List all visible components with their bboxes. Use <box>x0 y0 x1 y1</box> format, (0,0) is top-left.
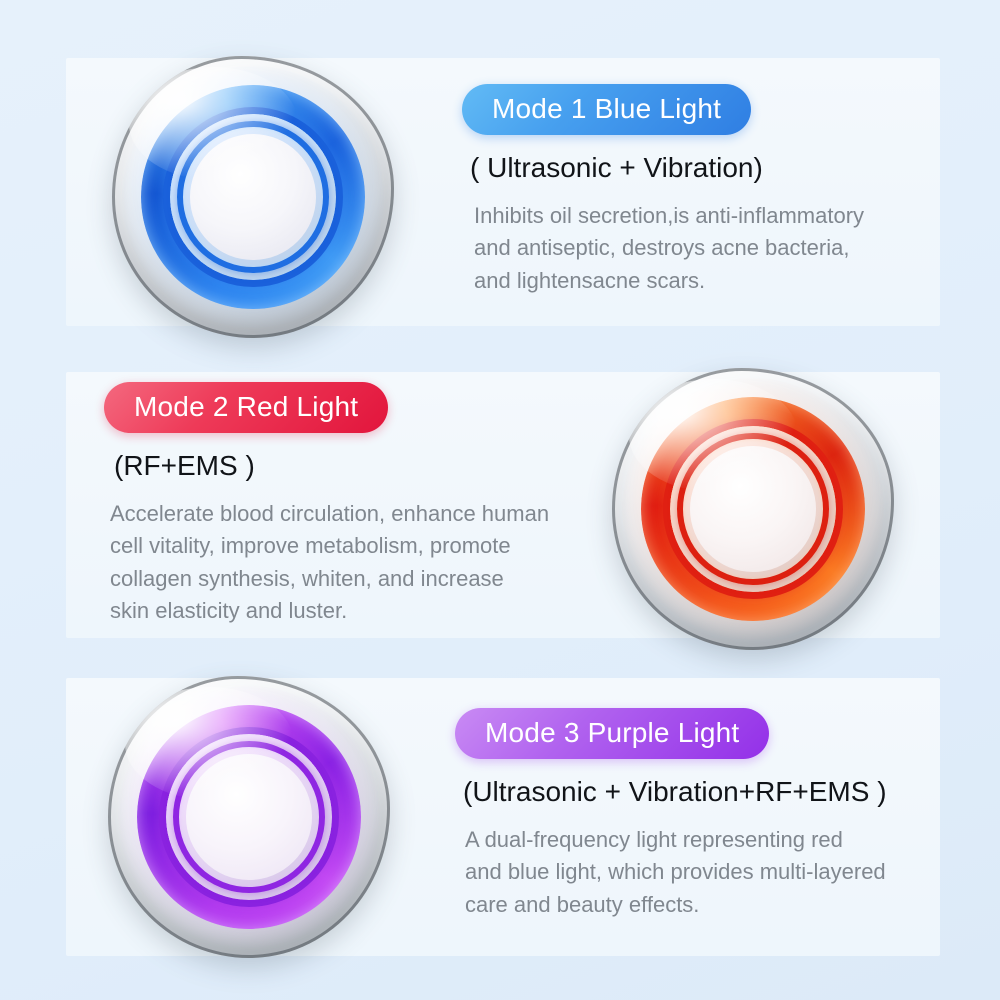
device-ring-stack <box>637 393 869 625</box>
mode-2-subheading: (RF+EMS ) <box>114 449 604 483</box>
blue-light-device <box>112 56 394 338</box>
mode-1-subheading: ( Ultrasonic + Vibration) <box>470 151 932 185</box>
description-line: care and beauty effects. <box>465 889 940 921</box>
mode-3-description: A dual-frequency light representing red … <box>465 824 940 921</box>
mode-2-text-block: Mode 2 Red Light (RF+EMS ) Accelerate bl… <box>104 382 604 627</box>
device-body-blob <box>108 676 390 958</box>
device-center-disc <box>690 446 816 572</box>
description-line: A dual-frequency light representing red <box>465 824 940 856</box>
description-line: and lightensacne scars. <box>474 265 932 297</box>
device-body-blob <box>612 368 894 650</box>
mode-1-badge: Mode 1 Blue Light <box>462 84 751 135</box>
mode-1-text-block: Mode 1 Blue Light ( Ultrasonic + Vibrati… <box>462 84 932 297</box>
mode-3-text-block: Mode 3 Purple Light (Ultrasonic + Vibrat… <box>455 708 940 921</box>
device-ring-stack <box>137 81 369 313</box>
mode-1-description: Inhibits oil secretion,is anti-inflammat… <box>474 200 932 297</box>
mode-2-description: Accelerate blood circulation, enhance hu… <box>110 498 604 627</box>
description-line: collagen synthesis, whiten, and increase <box>110 563 604 595</box>
mode-2-badge: Mode 2 Red Light <box>104 382 388 433</box>
description-line: and antiseptic, destroys acne bacteria, <box>474 232 932 264</box>
device-center-disc <box>190 134 316 260</box>
description-line: and blue light, which provides multi-lay… <box>465 856 940 888</box>
infographic-page: Mode 1 Blue Light ( Ultrasonic + Vibrati… <box>0 0 1000 1000</box>
description-line: Inhibits oil secretion,is anti-inflammat… <box>474 200 932 232</box>
mode-3-subheading: (Ultrasonic + Vibration+RF+EMS ) <box>463 775 940 809</box>
mode-3-badge: Mode 3 Purple Light <box>455 708 769 759</box>
device-body-blob <box>112 56 394 338</box>
device-ring-stack <box>133 701 365 933</box>
description-line: Accelerate blood circulation, enhance hu… <box>110 498 604 530</box>
device-center-disc <box>186 754 312 880</box>
red-light-device <box>612 368 894 650</box>
description-line: skin elasticity and luster. <box>110 595 604 627</box>
description-line: cell vitality, improve metabolism, promo… <box>110 530 604 562</box>
purple-light-device <box>108 676 390 958</box>
